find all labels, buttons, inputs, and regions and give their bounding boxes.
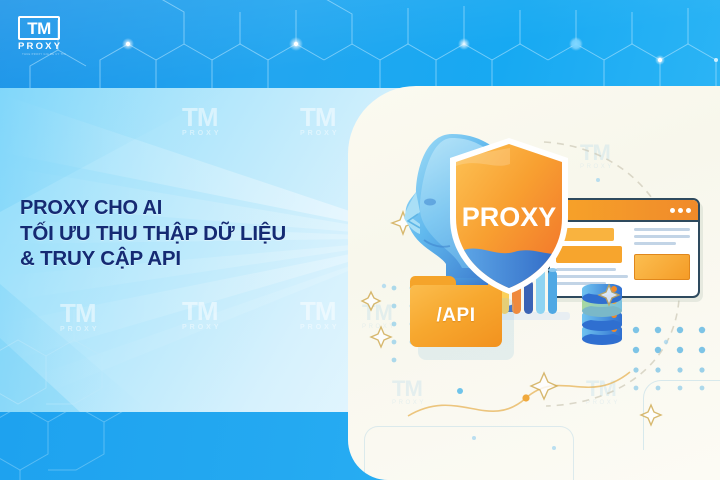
content-line (634, 235, 690, 238)
logo-mark: TM (18, 16, 60, 40)
header-band: TM PROXY THUE PROXY GIA RE UY TIN (0, 0, 720, 88)
illustration-panel: TMPROXY TMPROXY TMPROXY TMPROXY TMPROXY (348, 86, 720, 480)
logo-tagline: THUE PROXY GIA RE UY TIN (18, 53, 70, 56)
content-line (634, 228, 690, 231)
browser-dot-icon (686, 208, 691, 213)
browser-dot-icon (670, 208, 675, 213)
database-stack-icon (580, 284, 624, 346)
hexagon-network-pattern (0, 0, 720, 88)
logo-wordmark: PROXY (18, 41, 70, 52)
headline-line-3: & TRUY CẬP API (20, 246, 286, 271)
browser-dot-icon (678, 208, 683, 213)
headline-block: PROXY CHO AI TỐI ƯU THU THẬP DỮ LIỆU & T… (20, 196, 286, 271)
proxy-shield-icon: PROXY (442, 136, 576, 296)
headline-line-1: PROXY CHO AI (20, 196, 286, 221)
content-block (634, 254, 690, 280)
content-line (634, 242, 676, 245)
tmproxy-logo[interactable]: TM PROXY THUE PROXY GIA RE UY TIN (18, 16, 74, 58)
panel-surface: TMPROXY TMPROXY TMPROXY TMPROXY TMPROXY (348, 86, 720, 480)
banner-stage: TM PROXY THUE PROXY GIA RE UY TIN (0, 0, 720, 480)
illustration-group: PROXY (348, 86, 720, 480)
headline-line-2: TỐI ƯU THU THẬP DỮ LIỆU (20, 221, 286, 246)
shield-label: PROXY (462, 202, 557, 232)
